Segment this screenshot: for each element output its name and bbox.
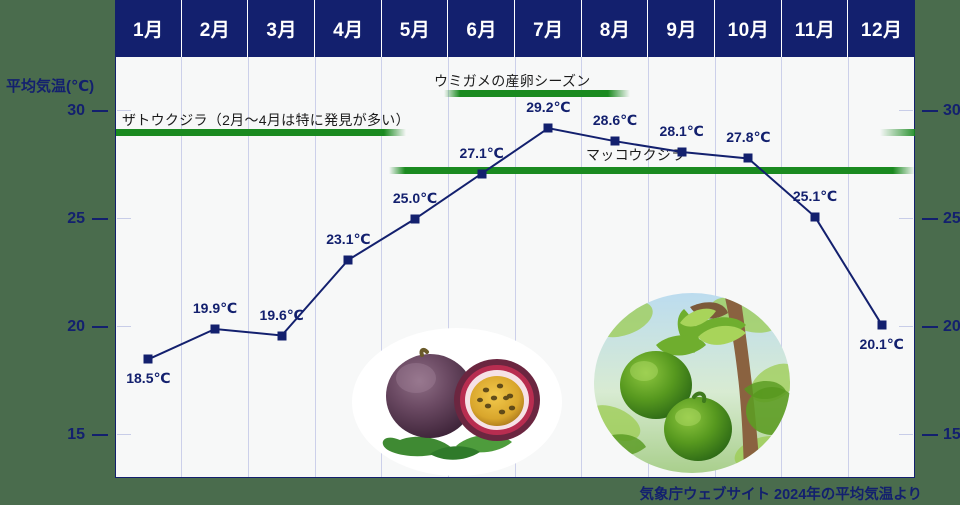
y-tick-label-left: 15 bbox=[59, 427, 85, 443]
y-tick-mark bbox=[92, 110, 108, 112]
y-tick-mark bbox=[922, 434, 938, 436]
data-point-label: 25.1℃ bbox=[793, 188, 837, 205]
y-tick-label-right: 25 bbox=[943, 211, 960, 227]
data-point-label: 28.1℃ bbox=[660, 123, 704, 140]
data-point-marker[interactable] bbox=[611, 137, 620, 146]
passion-fruit-illustration bbox=[352, 328, 562, 476]
month-header-cell[interactable]: 2月 bbox=[182, 0, 249, 57]
month-header-cell[interactable]: 5月 bbox=[382, 0, 449, 57]
data-point-label: 25.0℃ bbox=[393, 190, 437, 207]
data-point-label: 18.5℃ bbox=[126, 370, 170, 387]
y-tick-label-right: 30 bbox=[943, 103, 960, 119]
y-tick-label-left: 20 bbox=[59, 319, 85, 335]
month-header-cell[interactable]: 8月 bbox=[582, 0, 649, 57]
season-label-sperm-whale: マッコウクジラ bbox=[586, 145, 686, 165]
data-point-marker[interactable] bbox=[211, 325, 220, 334]
lime-tree-illustration bbox=[594, 293, 790, 473]
y-tick-stub bbox=[117, 110, 131, 111]
y-tick-stub bbox=[899, 434, 913, 435]
season-bar-sea-turtle-nesting bbox=[444, 90, 630, 97]
month-header-cell[interactable]: 6月 bbox=[448, 0, 515, 57]
data-point-marker[interactable] bbox=[744, 154, 753, 163]
passion-fruit-photo bbox=[352, 328, 562, 476]
data-point-marker[interactable] bbox=[677, 147, 686, 156]
source-note: 気象庁ウェブサイト 2024年の平均気温より bbox=[640, 483, 923, 504]
season-bar-humpback-whale bbox=[116, 129, 406, 136]
gridline-vertical bbox=[848, 57, 849, 477]
y-tick-stub bbox=[117, 326, 131, 327]
month-header-cell[interactable]: 12月 bbox=[848, 0, 915, 57]
y-tick-label-right: 20 bbox=[943, 319, 960, 335]
y-tick-label-left: 30 bbox=[59, 103, 85, 119]
data-point-marker[interactable] bbox=[477, 169, 486, 178]
y-tick-stub bbox=[117, 434, 131, 435]
data-point-marker[interactable] bbox=[877, 320, 886, 329]
month-header-cell[interactable]: 3月 bbox=[248, 0, 315, 57]
y-axis-caption: 平均気温(℃) bbox=[6, 75, 94, 96]
data-point-marker[interactable] bbox=[277, 331, 286, 340]
y-tick-mark bbox=[92, 218, 108, 220]
y-tick-stub bbox=[899, 326, 913, 327]
month-header-row: 1月2月3月4月5月6月7月8月9月10月11月12月 bbox=[115, 0, 915, 57]
y-tick-stub bbox=[899, 110, 913, 111]
month-header-cell[interactable]: 4月 bbox=[315, 0, 382, 57]
data-point-marker[interactable] bbox=[411, 214, 420, 223]
season-label-sea-turtle-nesting: ウミガメの産卵シーズン bbox=[434, 71, 591, 91]
y-tick-mark bbox=[922, 326, 938, 328]
y-tick-label-right: 15 bbox=[943, 427, 960, 443]
y-tick-label-left: 25 bbox=[59, 211, 85, 227]
data-point-label: 20.1℃ bbox=[860, 336, 904, 353]
y-tick-mark bbox=[922, 218, 938, 220]
month-header-cell[interactable]: 10月 bbox=[715, 0, 782, 57]
data-point-label: 19.6℃ bbox=[260, 307, 304, 324]
month-header-cell[interactable]: 7月 bbox=[515, 0, 582, 57]
data-point-label: 27.8℃ bbox=[726, 129, 770, 146]
climate-chart-root: 1月2月3月4月5月6月7月8月9月10月11月12月 平均気温(℃) ザトウク… bbox=[0, 0, 960, 505]
data-point-label: 29.2℃ bbox=[526, 99, 570, 116]
data-point-marker[interactable] bbox=[544, 124, 553, 133]
y-tick-stub bbox=[117, 218, 131, 219]
data-point-label: 23.1℃ bbox=[326, 231, 370, 248]
data-point-marker[interactable] bbox=[811, 212, 820, 221]
gridline-vertical bbox=[581, 57, 582, 477]
data-point-label: 27.1℃ bbox=[460, 145, 504, 162]
season-bar-humpback-whale-continuation bbox=[880, 129, 915, 136]
month-header-cell[interactable]: 11月 bbox=[782, 0, 849, 57]
month-header-cell[interactable]: 9月 bbox=[648, 0, 715, 57]
data-point-label: 19.9℃ bbox=[193, 300, 237, 317]
y-tick-mark bbox=[92, 326, 108, 328]
y-tick-mark bbox=[922, 110, 938, 112]
y-tick-mark bbox=[92, 434, 108, 436]
data-point-marker[interactable] bbox=[344, 255, 353, 264]
y-tick-stub bbox=[899, 218, 913, 219]
season-bar-sperm-whale bbox=[389, 167, 915, 174]
data-point-label: 28.6℃ bbox=[593, 112, 637, 129]
month-header-cell[interactable]: 1月 bbox=[115, 0, 182, 57]
lime-photo bbox=[594, 293, 790, 473]
data-point-marker[interactable] bbox=[144, 355, 153, 364]
season-label-humpback-whale: ザトウクジラ（2月〜4月は特に発見が多い） bbox=[122, 110, 410, 130]
